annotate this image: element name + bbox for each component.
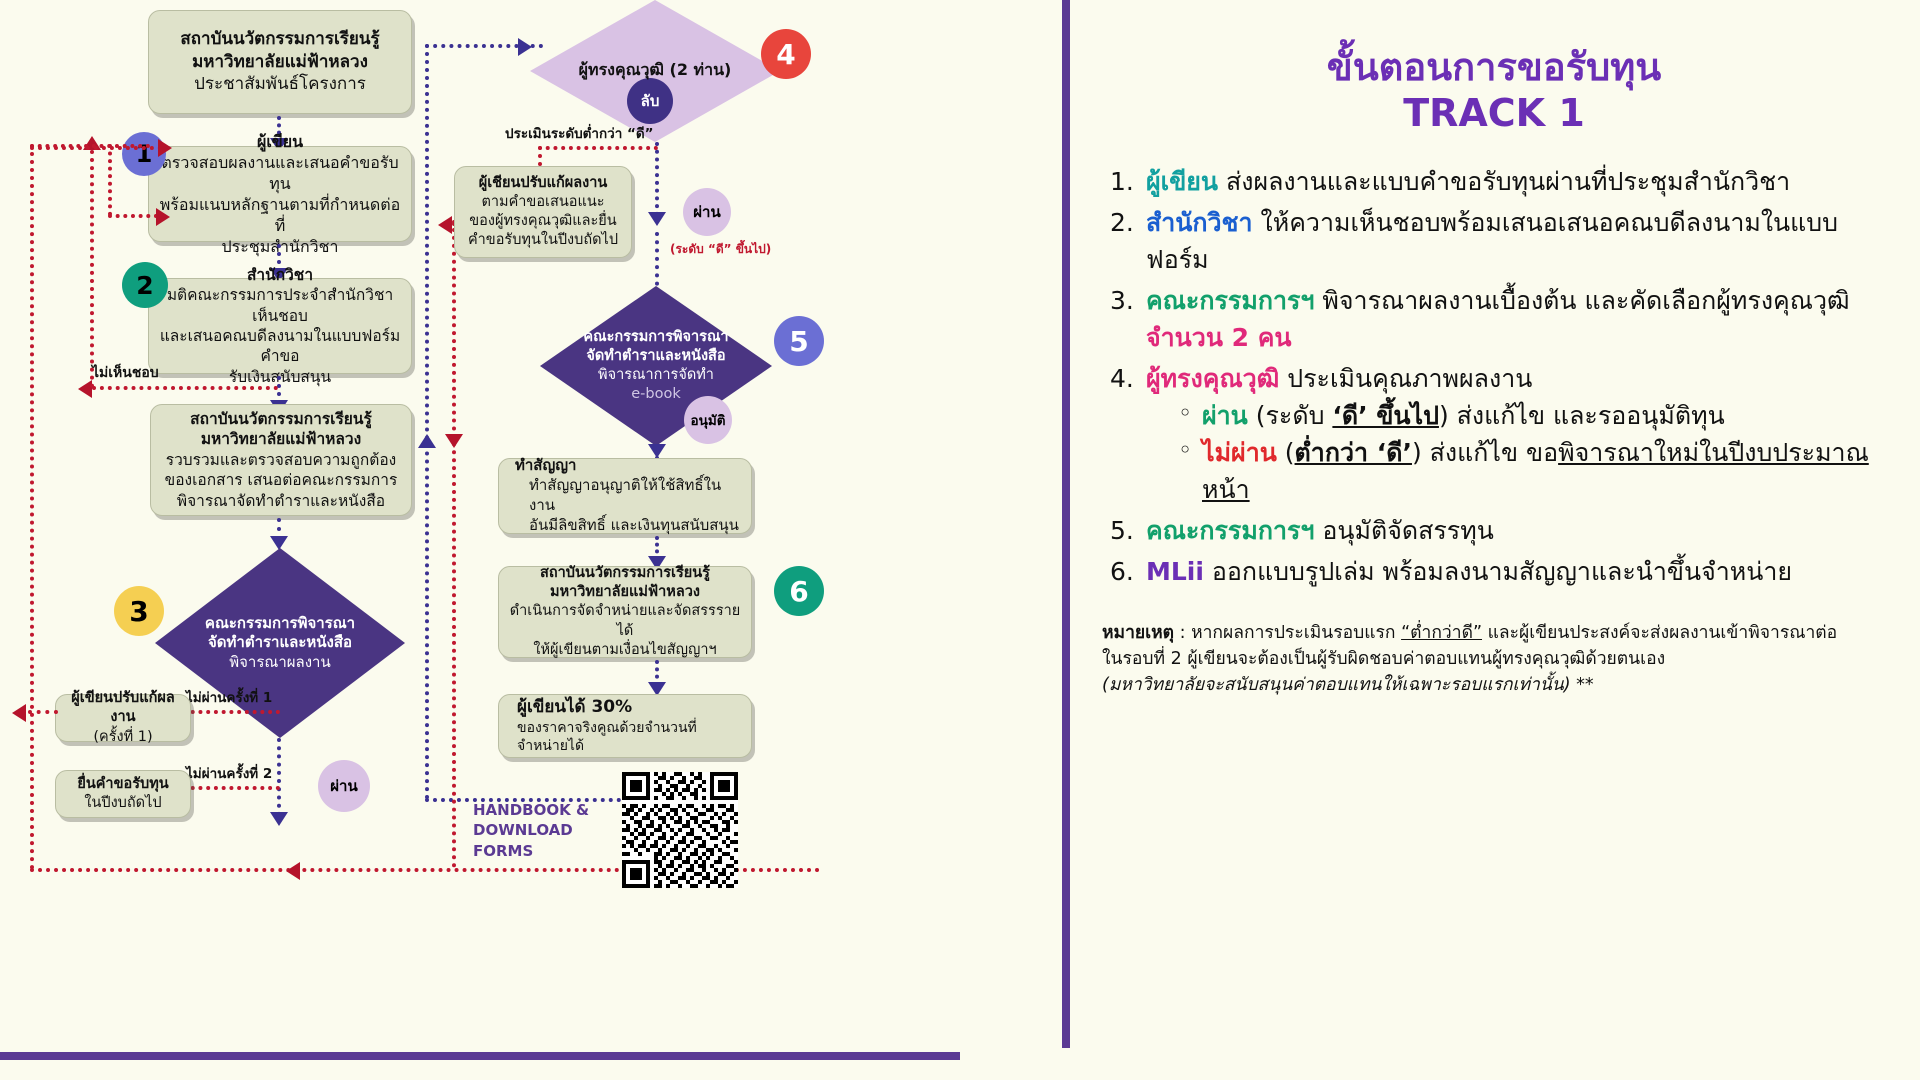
edge-return-far-left [30, 144, 34, 870]
edge-expert-down-2 [655, 232, 659, 294]
badge-pass-mid-label: ผ่าน [693, 200, 720, 224]
right-panel: ขั้นตอนการขอรับทุน TRACK 1 ผู้เขียน ส่งผ… [1080, 0, 1920, 1080]
node-committee-ebook-line3: พิจารณาการจัดทำ [583, 366, 728, 385]
step-4-sub-2-keyword: ไม่ผ่าน [1202, 438, 1277, 467]
node-mlii-verify-line5: พิจารณาจัดทำตำราและหนังสือ [177, 491, 385, 511]
badge-pass-left-label: ผ่าน [330, 774, 357, 798]
node-committee-review-line2: จัดทำตำราและหนังสือ [205, 633, 355, 653]
footnote-line1a: : หากผลการประเมินรอบแรก [1174, 623, 1401, 643]
edge-left-to-expert-vertical [425, 44, 429, 800]
node-mlii-verify-line2: มหาวิทยาลัยแม่ฟ้าหลวง [201, 429, 361, 449]
footnote: หมายเหตุ : หากผลการประเมินรอบแรก “ต่ำกว่… [1102, 620, 1886, 699]
node-royalty-line1: ผู้เขียนได้ 30% [517, 696, 632, 718]
step-4-sub-1-pre: (ระดับ [1248, 401, 1333, 430]
node-mlii-announce-line3: ประชาสัมพันธ์โครงการ [194, 73, 366, 95]
badge-step-6-label: 6 [789, 575, 808, 608]
edge-expert-down [655, 142, 659, 216]
vertical-divider [1062, 0, 1070, 1048]
step-item-1: ผู้เขียน ส่งผลงานและแบบคำขอรับทุนผ่านที่… [1102, 163, 1886, 200]
step-3-text: พิจารณาผลงานเบื้องต้น และคัดเลือกผู้ทรงค… [1314, 286, 1849, 315]
node-revise-1-line2: (ครั้งที่ 1) [93, 728, 152, 747]
qr-code[interactable] [622, 772, 738, 888]
handbook-line1: HANDBOOK & [473, 800, 613, 820]
badge-step-2-label: 2 [136, 271, 153, 300]
node-mlii-sell: สถาบันนวัตกรรมการเรียนรู้ มหาวิทยาลัยแม่… [498, 566, 752, 658]
node-mlii-sell-line4: ให้ผู้เขียนตามเงื่อนไขสัญญาฯ [533, 641, 716, 660]
node-mlii-announce-line2: มหาวิทยาลัยแม่ฟ้าหลวง [192, 51, 368, 73]
badge-secret-label: ลับ [641, 89, 660, 113]
node-committee-ebook-line4: e-book [583, 385, 728, 404]
edge-mid-red-vertical [452, 220, 456, 868]
node-contract-line3: อันมีลิขสิทธิ์ และเงินทุนสนับสนุน [515, 516, 739, 536]
badge-step-5: 5 [774, 316, 824, 366]
step-6-text: ออกแบบรูปเล่ม พร้อมลงนามสัญญาและนำขึ้นจำ… [1204, 557, 1792, 586]
node-contract-line2: ทำสัญญาอนุญาติให้ใช้สิทธิ์ในงาน [515, 476, 741, 516]
steps-list: ผู้เขียน ส่งผลงานและแบบคำขอรับทุนผ่านที่… [1102, 163, 1886, 590]
badge-step-4-label: 4 [776, 38, 795, 71]
node-royalty-line2: ของราคาจริงคูณด้วยจำนวนที่จำหน่ายได้ [517, 719, 741, 756]
node-mlii-verify-line3: รวบรวมและตรวจสอบความถูกต้อง [166, 450, 396, 470]
node-revise-1-line1: ผู้เขียนปรับแก้ผลงาน [66, 689, 180, 727]
node-royalty: ผู้เขียนได้ 30% ของราคาจริงคูณด้วยจำนวนท… [498, 694, 752, 758]
step-5-text: อนุมัติจัดสรรทุน [1314, 516, 1493, 545]
badge-pass-mid: ผ่าน [683, 188, 731, 236]
node-mlii-announce-line1: สถาบันนวัตกรรมการเรียนรู้ [180, 28, 379, 50]
node-committee-review-line3: พิจารณาผลงาน [205, 653, 355, 673]
node-school: สำนักวิชา มติคณะกรรมการประจำสำนักวิชาเห็… [148, 278, 412, 374]
step-item-6: MLii ออกแบบรูปเล่ม พร้อมลงนามสัญญาและนำข… [1102, 553, 1886, 590]
step-4-sub-2-post: ) ส่งแก้ไข ขอ [1412, 438, 1558, 467]
badge-step-3-label: 3 [129, 595, 148, 628]
node-revise-expert-line3: ของผู้ทรงคุณวุฒิและยื่น [469, 212, 616, 231]
badge-secret: ลับ [627, 78, 673, 124]
step-2-keyword: สำนักวิชา [1146, 208, 1253, 237]
step-4-sub-2-pre: ( [1277, 438, 1295, 467]
arrowhead-right [158, 139, 172, 157]
badge-approve-label: อนุมัติ [690, 409, 725, 431]
badge-pass-note: (ระดับ “ดี” ขึ้นไป) [670, 240, 771, 259]
arrowhead-down [648, 444, 666, 458]
footnote-line2: ในรอบที่ 2 ผู้เขียนจะต้องเป็นผู้รับผิดชอ… [1102, 646, 1886, 672]
step-3-tail-keyword: จำนวน 2 คน [1146, 323, 1292, 352]
edge-label-fail-2: ไม่ผ่านครั้งที่ 2 [186, 762, 272, 784]
page-title-line2: TRACK 1 [1102, 90, 1886, 136]
arrowhead-right [156, 208, 170, 226]
footnote-line3: (มหาวิทยาลัยจะสนับสนุนค่าตอบแทนให้เฉพาะร… [1102, 672, 1886, 698]
edge-return-mid-vert [108, 144, 112, 216]
arrowhead-down [270, 812, 288, 826]
step-item-5: คณะกรรมการฯ อนุมัติจัดสรรทุน [1102, 512, 1886, 549]
node-revise-expert-line1: ผู้เชียนปรับแก้ผลงาน [479, 174, 608, 193]
step-4-sub-1: ผ่าน (ระดับ ‘ดี’ ขึ้นไป) ส่งแก้ไข และรออ… [1176, 397, 1886, 434]
node-mlii-verify: สถาบันนวัตกรรมการเรียนรู้ มหาวิทยาลัยแม่… [150, 404, 412, 516]
node-mlii-verify-line4: ของเอกสาร เสนอต่อคณะกรรมการ [165, 470, 398, 490]
node-mlii-sell-line3: ดำเนินการจัดจำหน่ายและจัดสรรรายได้ [509, 602, 741, 640]
edge-return-mid [108, 214, 158, 218]
node-author-line1: ผู้เขียน [257, 131, 303, 152]
node-mlii-sell-line1: สถาบันนวัตกรรมการเรียนรู้ [540, 564, 710, 583]
edge-return-left-vertical [90, 150, 94, 388]
step-5-keyword: คณะกรรมการฯ [1146, 516, 1314, 545]
node-contract-line1: ทำสัญญา [515, 456, 576, 476]
badge-step-2: 2 [122, 262, 168, 308]
badge-step-5-label: 5 [789, 325, 808, 358]
node-committee-ebook-line2: จัดทำตำราและหนังสือ [583, 347, 728, 366]
step-item-4: ผู้ทรงคุณวุฒิ ประเมินคุณภาพผลงาน ผ่าน (ร… [1102, 360, 1886, 508]
arrowhead-down [445, 434, 463, 448]
step-item-2: สำนักวิชา ให้ความเห็นชอบพร้อมเสนอเสนอคณบ… [1102, 204, 1886, 278]
step-4-sub-1-post: ) ส่งแก้ไข และรออนุมัติทุน [1439, 401, 1725, 430]
page-title: ขั้นตอนการขอรับทุน TRACK 1 [1102, 44, 1886, 137]
step-3-keyword: คณะกรรมการฯ [1146, 286, 1314, 315]
step-4-sub-2-emph: ต่ำกว่า ‘ดี’ [1295, 438, 1412, 467]
edge-below-good [538, 146, 658, 150]
step-item-3: คณะกรรมการฯ พิจารณาผลงานเบื้องต้น และคัด… [1102, 282, 1886, 356]
arrowhead-down [648, 212, 666, 226]
node-contract: ทำสัญญา ทำสัญญาอนุญาติให้ใช้สิทธิ์ในงาน … [498, 458, 752, 534]
badge-pass-left: ผ่าน [318, 760, 370, 812]
node-expert-review-line1: ผู้ทรงคุณวุฒิ (2 ท่าน) [579, 60, 732, 81]
edge-label-below-good: ประเมินระดับต่ำกว่า “ดี” [505, 122, 654, 144]
edge-disapprove [92, 386, 278, 390]
step-1-text: ส่งผลงานและแบบคำขอรับทุนผ่านที่ประชุมสำน… [1218, 167, 1790, 196]
step-6-keyword: MLii [1146, 557, 1204, 586]
step-1-keyword: ผู้เขียน [1146, 167, 1218, 196]
node-resubmit-line1: ยื่นคำขอรับทุน [77, 775, 168, 794]
edge-label-disapprove: ไม่เห็นชอบ [92, 362, 159, 384]
node-revise-expert-line4: คำขอรับทุนในปีงบถัดไป [468, 231, 618, 250]
arrowhead-left [12, 704, 26, 722]
step-4-sub-1-emph: ‘ดี’ ขึ้นไป [1332, 401, 1439, 430]
badge-step-3: 3 [114, 586, 164, 636]
footnote-label: หมายเหตุ [1102, 623, 1174, 643]
node-resubmit-line2: ในปีงบถัดไป [84, 794, 161, 813]
edge-label-fail-1: ไม่ผ่านครั้งที่ 1 [186, 686, 272, 708]
arrowhead-left [438, 216, 452, 234]
handbook-download-label: HANDBOOK & DOWNLOAD FORMS [473, 800, 613, 861]
step-4-sub-2: ไม่ผ่าน (ต่ำกว่า ‘ดี’) ส่งแก้ไข ขอพิจารณ… [1176, 434, 1886, 508]
node-mlii-announce: สถาบันนวัตกรรมการเรียนรู้ มหาวิทยาลัยแม่… [148, 10, 412, 114]
step-4-sub-1-keyword: ผ่าน [1202, 401, 1248, 430]
node-school-line2: มติคณะกรรมการประจำสำนักวิชาเห็นชอบ [159, 285, 401, 326]
node-mlii-sell-line2: มหาวิทยาลัยแม่ฟ้าหลวง [550, 583, 700, 602]
badge-step-6: 6 [774, 566, 824, 616]
page-title-line1: ขั้นตอนการขอรับทุน [1102, 44, 1886, 90]
node-author-line2: ตรวจสอบผลงานและเสนอคำขอรับทุน [159, 152, 401, 194]
node-mlii-verify-line1: สถาบันนวัตกรรมการเรียนรู้ [190, 409, 372, 429]
step-4-sublist: ผ่าน (ระดับ ‘ดี’ ขึ้นไป) ส่งแก้ไข และรออ… [1146, 397, 1886, 508]
node-revise-expert-line2: ตามคำขอเสนอแนะ [481, 193, 604, 212]
step-4-keyword: ผู้ทรงคุณวุฒิ [1146, 364, 1279, 393]
node-school-line1: สำนักวิชา [247, 265, 313, 285]
arrowhead-up [418, 434, 436, 448]
footnote-underline: “ต่ำกว่าดี” [1401, 623, 1482, 643]
node-author-line3: พร้อมแนบหลักฐานตามที่กำหนดต่อที่ [159, 194, 401, 236]
node-revise-1: ผู้เขียนปรับแก้ผลงาน (ครั้งที่ 1) [55, 694, 191, 742]
node-school-line3: และเสนอคณบดีลงนามในแบบฟอร์มคำขอ [159, 326, 401, 367]
node-committee-ebook: คณะกรรมการพิจารณา จัดทำตำราและหนังสือ พิ… [540, 286, 772, 446]
edge-committee-down [277, 738, 281, 816]
node-committee-ebook-line1: คณะกรรมการพิจารณา [583, 328, 728, 347]
qr-code-svg [622, 772, 738, 888]
edge-return-top-2 [30, 146, 170, 150]
edge-revise1-out [28, 710, 58, 714]
node-committee-review-line1: คณะกรรมการพิจารณา [205, 614, 355, 634]
node-revise-expert: ผู้เชียนปรับแก้ผลงาน ตามคำขอเสนอแนะ ของผ… [454, 166, 632, 258]
arrowhead-left [286, 862, 300, 880]
node-author: ผู้เขียน ตรวจสอบผลงานและเสนอคำขอรับทุน พ… [148, 146, 412, 242]
footnote-line1b: และผู้เขียนประสงค์จะส่งผลงานเข้าพิจารณาต… [1482, 623, 1837, 643]
bottom-divider-bar [0, 1052, 960, 1060]
handbook-line2: DOWNLOAD FORMS [473, 820, 613, 861]
step-4-text: ประเมินคุณภาพผลงาน [1279, 364, 1532, 393]
node-resubmit: ยื่นคำขอรับทุน ในปีงบถัดไป [55, 770, 191, 818]
badge-step-4: 4 [761, 29, 811, 79]
